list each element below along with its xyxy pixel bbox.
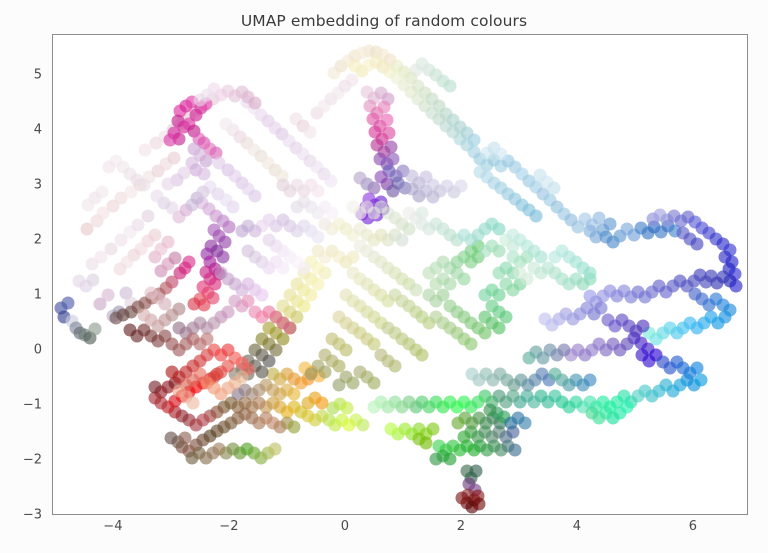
scatter-point xyxy=(141,209,154,222)
scatter-point xyxy=(493,321,506,334)
y-tick-label: −2 xyxy=(8,453,42,468)
scatter-point xyxy=(455,492,468,505)
scatter-point xyxy=(454,180,467,193)
scatter-point xyxy=(256,289,269,302)
scatter-point xyxy=(402,223,415,236)
y-tick-label: 1 xyxy=(8,288,42,303)
y-tick-label: 4 xyxy=(8,123,42,138)
y-tick-label: 2 xyxy=(8,233,42,248)
scatter-point xyxy=(150,190,163,203)
plot-axes xyxy=(52,34,748,515)
scatter-point xyxy=(227,201,240,214)
scatter-point xyxy=(353,172,366,185)
scatter-point xyxy=(548,368,561,381)
scatter-point xyxy=(419,437,432,450)
scatter-point xyxy=(339,343,352,356)
scatter-point xyxy=(162,177,175,190)
scatter-point xyxy=(165,365,178,378)
scatter-point xyxy=(620,401,633,414)
scatter-point xyxy=(214,267,227,280)
scatter-point xyxy=(416,349,429,362)
scatter-point xyxy=(467,133,480,146)
scatter-point xyxy=(530,209,543,222)
scatter-point xyxy=(198,168,211,181)
x-tick-label: 2 xyxy=(457,519,465,534)
scatter-point xyxy=(534,250,547,263)
scatter-point xyxy=(409,283,422,296)
y-tick-label: −3 xyxy=(8,508,42,523)
scatter-point xyxy=(62,296,75,309)
scatter-point xyxy=(148,228,161,241)
scatter-point xyxy=(287,420,300,433)
scatter-point xyxy=(466,368,479,381)
scatter-point xyxy=(162,236,175,249)
scatter-point xyxy=(483,404,496,417)
scatter-point xyxy=(388,360,401,373)
scatter-point xyxy=(277,261,290,274)
scatter-point xyxy=(691,361,704,374)
y-tick-label: 3 xyxy=(8,178,42,193)
scatter-point xyxy=(495,148,508,161)
scatter-point xyxy=(263,234,276,247)
scatter-point xyxy=(197,185,210,198)
scatter-point xyxy=(256,365,269,378)
x-tick-label: −4 xyxy=(103,519,122,534)
scatter-point xyxy=(583,290,596,303)
scatter-point xyxy=(169,251,182,264)
scatter-point xyxy=(341,402,354,415)
scatter-point xyxy=(291,201,304,214)
scatter-point xyxy=(138,308,151,321)
scatter-point xyxy=(242,245,255,258)
scatter-point xyxy=(346,376,359,389)
scatter-point xyxy=(325,206,338,219)
scatter-point xyxy=(518,416,531,429)
scatter-point xyxy=(346,250,359,263)
scatter-point xyxy=(444,452,457,465)
scatter-point xyxy=(103,161,116,174)
scatter-point xyxy=(380,114,393,127)
scatter-point xyxy=(444,278,457,291)
scatter-point xyxy=(145,286,158,299)
scatter-point xyxy=(303,126,316,139)
scatter-point xyxy=(499,311,512,324)
scatter-point xyxy=(367,376,380,389)
scatter-point xyxy=(385,423,398,436)
scatter-point xyxy=(178,431,191,444)
scatter-point xyxy=(168,151,181,164)
scatter-point xyxy=(87,273,100,286)
scatter-point xyxy=(88,323,101,336)
scatter-point xyxy=(284,321,297,334)
scatter-point xyxy=(539,313,552,326)
scatter-point xyxy=(113,262,126,275)
scatter-point xyxy=(465,338,478,351)
scatter-point xyxy=(148,381,161,394)
scatter-point xyxy=(110,312,123,325)
scatter-point xyxy=(138,179,151,192)
scatter-point xyxy=(319,365,332,378)
scatter-point xyxy=(416,206,429,219)
scatter-point xyxy=(235,371,248,384)
scatter-point xyxy=(164,431,177,444)
scatter-point xyxy=(102,289,115,302)
scatter-point xyxy=(458,272,471,285)
scatter-point xyxy=(430,452,443,465)
scatter-point xyxy=(315,396,328,409)
scatter-point xyxy=(187,297,200,310)
y-tick-label: 5 xyxy=(8,68,42,83)
scatter-point xyxy=(163,133,176,146)
page-title: UMAP embedding of random colours xyxy=(0,12,768,30)
scatter-point xyxy=(583,267,596,280)
scatter-point xyxy=(409,63,422,76)
scatter-point xyxy=(249,190,262,203)
scatter-point xyxy=(604,217,617,230)
x-tick-label: 6 xyxy=(689,519,697,534)
scatter-point xyxy=(324,174,337,187)
scatter-point xyxy=(216,250,229,263)
y-tick-label: 0 xyxy=(8,343,42,358)
scatter-point xyxy=(509,444,522,457)
scatter-point xyxy=(469,464,482,477)
scatter-point xyxy=(312,184,325,197)
scatter-point xyxy=(124,324,137,337)
scatter-point xyxy=(298,261,311,274)
scatter-point xyxy=(426,191,439,204)
figure-canvas: UMAP embedding of random colours −4−2024… xyxy=(0,0,768,553)
scatter-point xyxy=(172,303,185,316)
scatter-point xyxy=(585,406,598,419)
scatter-point xyxy=(426,423,439,436)
scatter-point xyxy=(385,140,398,153)
scatter-point xyxy=(332,379,345,392)
scatter-point xyxy=(387,152,400,165)
scatter-point xyxy=(277,179,290,192)
scatter-point xyxy=(493,289,506,302)
x-tick-label: −2 xyxy=(219,519,238,534)
scatter-point xyxy=(452,416,465,429)
scatter-point xyxy=(186,396,199,409)
x-tick-label: 0 xyxy=(341,519,349,534)
scatter-point xyxy=(193,94,206,107)
scatter-point xyxy=(493,245,506,258)
scatter-point xyxy=(172,321,185,334)
scatter-point xyxy=(636,319,649,332)
scatter-point xyxy=(694,373,707,386)
scatter-point xyxy=(479,327,492,340)
scatter-point xyxy=(249,96,262,109)
scatter-point xyxy=(473,497,486,510)
scatter-point xyxy=(387,184,400,197)
scatter-point xyxy=(269,442,282,455)
scatter-point xyxy=(513,267,526,280)
scatter-point xyxy=(523,351,536,364)
scatter-points-layer xyxy=(53,35,747,514)
scatter-point xyxy=(357,418,370,431)
scatter-point xyxy=(235,225,248,238)
scatter-point xyxy=(729,280,742,293)
scatter-point xyxy=(220,117,233,130)
scatter-point xyxy=(305,368,318,381)
x-tick-label: 4 xyxy=(573,519,581,534)
scatter-point xyxy=(444,80,457,93)
scatter-point xyxy=(367,401,380,414)
scatter-point xyxy=(395,234,408,247)
scatter-point xyxy=(378,101,391,114)
scatter-point xyxy=(312,230,325,243)
scatter-point xyxy=(547,182,560,195)
scatter-point xyxy=(583,373,596,386)
scatter-point xyxy=(691,238,704,251)
scatter-point xyxy=(382,127,395,140)
scatter-point xyxy=(82,198,95,211)
y-tick-label: −1 xyxy=(8,398,42,413)
